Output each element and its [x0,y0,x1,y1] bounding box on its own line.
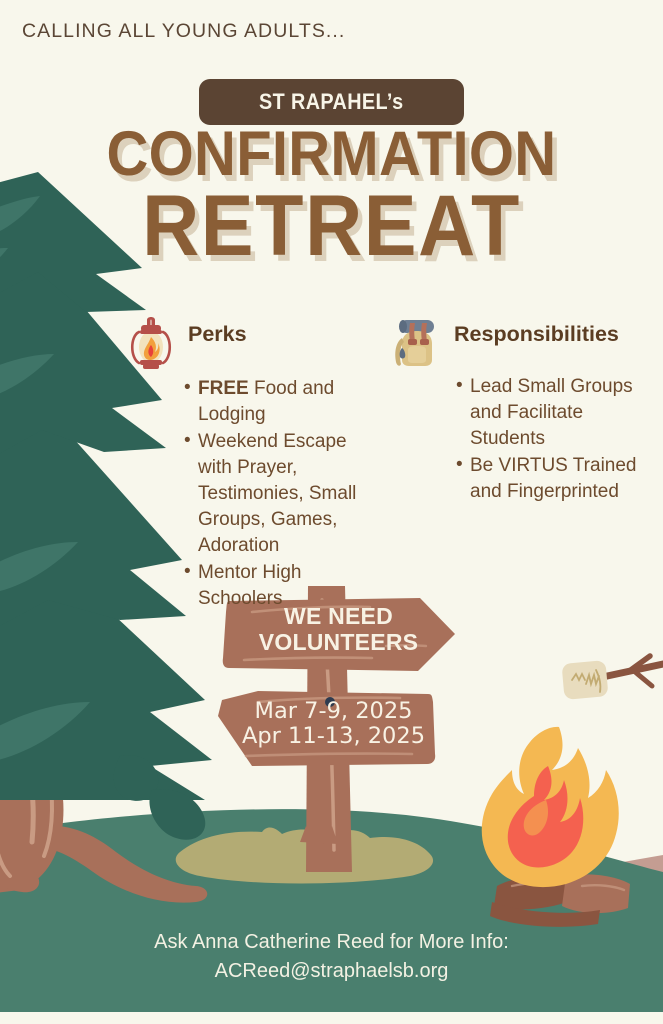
sign-volunteers-text: WE NEED VOLUNTEERS [236,604,441,656]
perk-0-bold: FREE [198,378,249,399]
poster-canvas: CALLING ALL YOUNG ADULTS... ST RAPAHEL’s… [0,0,663,1024]
date-line-2: Apr 11-13, 2025 [226,724,441,749]
responsibilities-list: Lead Small Groups and Facilitate Student… [388,374,638,505]
page-title: CONFIRMATION RETREAT [0,126,663,268]
sign-line-2: VOLUNTEERS [259,629,418,655]
list-item: Be VIRTUS Trained and Fingerprinted [456,453,638,505]
responsibilities-title: Responsibilities [454,312,619,347]
date-line-1: Mar 7-9, 2025 [226,699,441,724]
eyebrow-text: CALLING ALL YOUNG ADULTS... [22,20,345,43]
backpack-icon [388,314,446,372]
footer-line-1: Ask Anna Catherine Reed for More Info: [0,928,663,957]
responsibilities-header: Responsibilities [388,312,638,372]
footer-contact: Ask Anna Catherine Reed for More Info: A… [0,928,663,986]
responsibilities-section: Responsibilities Lead Small Groups and F… [388,312,638,506]
sign-line-1: WE NEED [284,603,393,629]
perks-list: FREE Food and Lodging Weekend Escape wit… [122,376,377,612]
title-line-retreat: RETREAT [27,186,637,268]
list-item: Lead Small Groups and Facilitate Student… [456,374,638,452]
title-line-confirmation: CONFIRMATION [27,126,637,184]
perks-title: Perks [188,312,247,347]
parish-badge-label: ST RAPAHEL’s [259,89,403,115]
list-item: FREE Food and Lodging [184,376,377,428]
lantern-icon [122,314,180,374]
sign-dates-text: Mar 7-9, 2025 Apr 11-13, 2025 [226,699,441,749]
perks-section: Perks FREE Food and Lodging Weekend Esca… [122,312,377,613]
perks-header: Perks [122,312,377,374]
resp-0-rest: Lead Small Groups and Facilitate Student… [470,376,633,449]
perk-1-rest: Weekend Escape with Prayer, Testimonies,… [198,431,356,556]
footer-bottom-edge [0,1012,663,1024]
resp-1-rest: Be VIRTUS Trained and Fingerprinted [470,455,637,502]
footer-line-2: ACReed@straphaelsb.org [0,957,663,986]
list-item: Weekend Escape with Prayer, Testimonies,… [184,429,377,559]
